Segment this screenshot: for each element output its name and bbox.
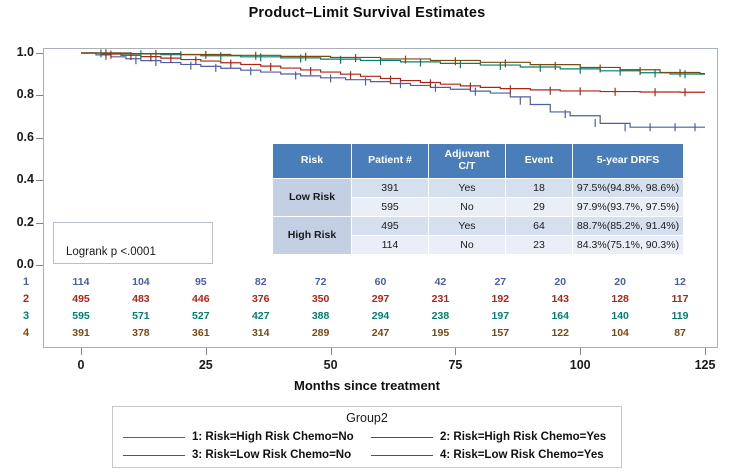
- at-risk-count: 314: [241, 327, 281, 339]
- x-tick-mark: [81, 348, 82, 355]
- y-tick-label: 0.4: [0, 172, 34, 186]
- at-risk-count: 495: [61, 293, 101, 305]
- event-count-cell: 29: [506, 197, 573, 216]
- y-tick-mark: [36, 95, 43, 96]
- event-count-cell: 23: [506, 235, 573, 254]
- x-tick-label: 75: [430, 358, 480, 372]
- x-tick-mark: [705, 348, 706, 355]
- y-tick-label: 1.0: [0, 45, 34, 59]
- at-risk-count: 143: [540, 293, 580, 305]
- survival-curve-group-1: [81, 53, 705, 127]
- drfs-cell: 97.9%(93.7%, 97.5%): [573, 197, 684, 216]
- risk-group-cell: Low Risk: [273, 178, 352, 216]
- at-risk-count: 294: [361, 310, 401, 322]
- x-tick-mark: [206, 348, 207, 355]
- x-tick-mark: [331, 348, 332, 355]
- at-risk-count: 82: [241, 276, 281, 288]
- at-risk-count: 483: [121, 293, 161, 305]
- at-risk-count: 388: [301, 310, 341, 322]
- at-risk-row-label-3: 3: [18, 310, 34, 322]
- col-header-patients: Patient #: [352, 144, 429, 179]
- at-risk-row-label-4: 4: [18, 327, 34, 339]
- at-risk-count: 378: [121, 327, 161, 339]
- legend-line-swatch: [371, 437, 433, 438]
- col-header-adjuvant-line1: Adjuvant: [445, 148, 490, 160]
- at-risk-count: 157: [480, 327, 520, 339]
- table-row: Low Risk391Yes1897.5%(94.8%, 98.6%): [273, 178, 684, 197]
- x-tick-mark: [580, 348, 581, 355]
- x-tick-label: 50: [306, 358, 356, 372]
- at-risk-count: 140: [600, 310, 640, 322]
- at-risk-table: 1114104958272604227202012249548344637635…: [0, 276, 734, 348]
- x-tick-label: 0: [56, 358, 106, 372]
- at-risk-count: 361: [181, 327, 221, 339]
- y-tick-mark: [36, 180, 43, 181]
- risk-group-cell: High Risk: [273, 216, 352, 254]
- summary-table: Risk Patient # Adjuvant C/T Event 5-year…: [272, 143, 684, 255]
- legend-entry-3[interactable]: 3: Risk=Low Risk Chemo=No: [123, 449, 351, 461]
- legend-title: Group2: [113, 411, 621, 425]
- event-count-cell: 64: [506, 216, 573, 235]
- at-risk-count: 446: [181, 293, 221, 305]
- adjuvant-ct-cell: Yes: [429, 178, 506, 197]
- legend-line-swatch: [123, 437, 185, 438]
- at-risk-count: 247: [361, 327, 401, 339]
- at-risk-count: 238: [420, 310, 460, 322]
- legend-entry-4[interactable]: 4: Risk=Low Risk Chemo=Yes: [371, 449, 604, 461]
- at-risk-count: 72: [301, 276, 341, 288]
- drfs-cell: 88.7%(85.2%, 91.4%): [573, 216, 684, 235]
- legend: Group2 1: Risk=High Risk Chemo=No2: Risk…: [112, 406, 622, 468]
- summary-table-head: Risk Patient # Adjuvant C/T Event 5-year…: [273, 144, 684, 179]
- col-header-adjuvant-line2: C/T: [459, 160, 476, 172]
- x-tick-label: 25: [181, 358, 231, 372]
- censor-marks-group-4: [106, 49, 680, 77]
- legend-line-swatch: [371, 455, 433, 456]
- survival-curve-group-3: [81, 53, 705, 74]
- drfs-cell: 84.3%(75.1%, 90.3%): [573, 235, 684, 254]
- at-risk-count: 527: [181, 310, 221, 322]
- logrank-annotation-box: Logrank p <.0001: [53, 222, 213, 264]
- at-risk-row-label-1: 1: [18, 276, 34, 288]
- y-tick-mark: [36, 53, 43, 54]
- summary-table-body: Low Risk391Yes1897.5%(94.8%, 98.6%)595No…: [273, 178, 684, 254]
- censor-marks-group-3: [101, 49, 685, 78]
- y-tick-mark: [36, 223, 43, 224]
- drfs-cell: 97.5%(94.8%, 98.6%): [573, 178, 684, 197]
- at-risk-count: 195: [420, 327, 460, 339]
- legend-label: 3: Risk=Low Risk Chemo=No: [192, 449, 351, 461]
- logrank-text: Logrank p <.0001: [66, 246, 156, 258]
- at-risk-row-label-2: 2: [18, 293, 34, 305]
- at-risk-count: 119: [660, 310, 700, 322]
- patient-count-cell: 595: [352, 197, 429, 216]
- legend-label: 2: Risk=High Risk Chemo=Yes: [440, 431, 606, 443]
- legend-entry-1[interactable]: 1: Risk=High Risk Chemo=No: [123, 431, 354, 443]
- y-tick-label: 0.6: [0, 130, 34, 144]
- at-risk-count: 95: [181, 276, 221, 288]
- at-risk-count: 571: [121, 310, 161, 322]
- at-risk-count: 27: [480, 276, 520, 288]
- y-tick-mark: [36, 138, 43, 139]
- at-risk-count: 197: [480, 310, 520, 322]
- adjuvant-ct-cell: No: [429, 235, 506, 254]
- adjuvant-ct-cell: Yes: [429, 216, 506, 235]
- at-risk-count: 117: [660, 293, 700, 305]
- at-risk-count: 192: [480, 293, 520, 305]
- y-tick-label: 0.0: [0, 257, 34, 271]
- legend-label: 1: Risk=High Risk Chemo=No: [192, 431, 354, 443]
- at-risk-count: 20: [600, 276, 640, 288]
- table-row: High Risk495Yes6488.7%(85.2%, 91.4%): [273, 216, 684, 235]
- at-risk-count: 114: [61, 276, 101, 288]
- at-risk-count: 20: [540, 276, 580, 288]
- censor-marks-group-2: [111, 51, 685, 97]
- y-tick-label: 0.8: [0, 87, 34, 101]
- col-header-adjuvant: Adjuvant C/T: [429, 144, 506, 179]
- event-count-cell: 18: [506, 178, 573, 197]
- at-risk-count: 42: [420, 276, 460, 288]
- patient-count-cell: 114: [352, 235, 429, 254]
- x-tick-label: 100: [555, 358, 605, 372]
- at-risk-count: 350: [301, 293, 341, 305]
- summary-table-header-row: Risk Patient # Adjuvant C/T Event 5-year…: [273, 144, 684, 179]
- legend-entry-2[interactable]: 2: Risk=High Risk Chemo=Yes: [371, 431, 606, 443]
- col-header-event: Event: [506, 144, 573, 179]
- at-risk-count: 595: [61, 310, 101, 322]
- x-tick-label: 125: [680, 358, 730, 372]
- legend-line-swatch: [123, 455, 185, 456]
- patient-count-cell: 391: [352, 178, 429, 197]
- y-tick-label: 0.2: [0, 215, 34, 229]
- col-header-drfs: 5-year DRFS: [573, 144, 684, 179]
- x-axis-title: Months since treatment: [0, 378, 734, 393]
- at-risk-count: 427: [241, 310, 281, 322]
- at-risk-count: 104: [600, 327, 640, 339]
- legend-label: 4: Risk=Low Risk Chemo=Yes: [440, 449, 604, 461]
- x-tick-mark: [455, 348, 456, 355]
- at-risk-count: 289: [301, 327, 341, 339]
- at-risk-count: 60: [361, 276, 401, 288]
- col-header-risk: Risk: [273, 144, 352, 179]
- at-risk-count: 376: [241, 293, 281, 305]
- at-risk-count: 122: [540, 327, 580, 339]
- at-risk-count: 391: [61, 327, 101, 339]
- at-risk-count: 12: [660, 276, 700, 288]
- at-risk-count: 164: [540, 310, 580, 322]
- at-risk-count: 128: [600, 293, 640, 305]
- at-risk-count: 87: [660, 327, 700, 339]
- at-risk-count: 297: [361, 293, 401, 305]
- y-tick-mark: [36, 265, 43, 266]
- at-risk-count: 104: [121, 276, 161, 288]
- adjuvant-ct-cell: No: [429, 197, 506, 216]
- chart-title: Product–Limit Survival Estimates: [0, 5, 734, 21]
- at-risk-count: 231: [420, 293, 460, 305]
- patient-count-cell: 495: [352, 216, 429, 235]
